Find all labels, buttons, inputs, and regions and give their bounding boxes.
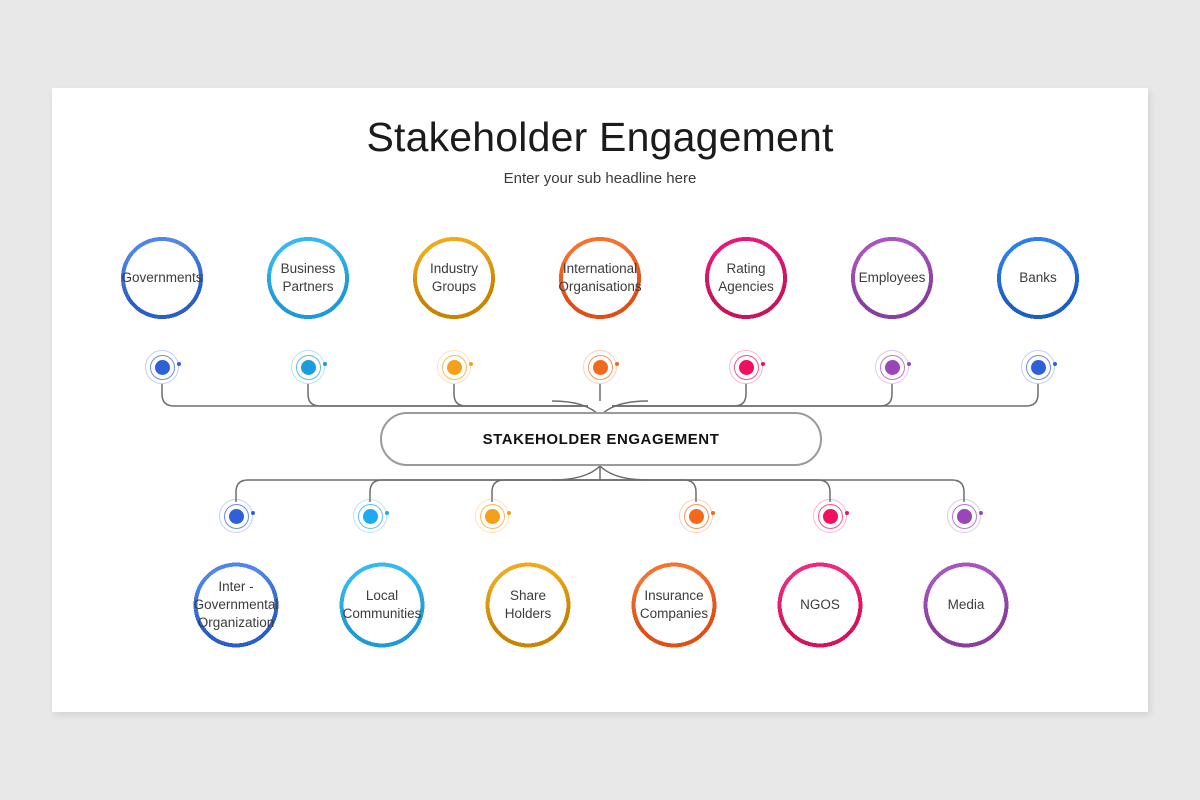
stakeholder-circle-industry-groups[interactable]: Industry Groups — [396, 220, 512, 336]
dot-satellite-icon — [711, 511, 715, 515]
dot-satellite-icon — [251, 511, 255, 515]
stakeholder-label: Rating Agencies — [710, 260, 782, 296]
center-banner-label: STAKEHOLDER ENGAGEMENT — [483, 431, 720, 448]
dot-core-icon — [363, 509, 378, 524]
diagram-stage: Stakeholder Engagement Enter your sub he… — [52, 88, 1148, 712]
dot-core-icon — [885, 360, 900, 375]
dot-satellite-icon — [385, 511, 389, 515]
connector-dot-insurance-companies[interactable] — [679, 499, 713, 533]
dot-satellite-icon — [845, 511, 849, 515]
dot-core-icon — [957, 509, 972, 524]
connector-dot-media[interactable] — [947, 499, 981, 533]
center-banner[interactable]: STAKEHOLDER ENGAGEMENT — [380, 412, 822, 466]
stakeholder-label: Inter - Governmental Organization — [186, 578, 287, 631]
dot-core-icon — [593, 360, 608, 375]
stakeholder-circle-local-communities[interactable]: Local Communities — [322, 545, 442, 665]
slide-canvas: Stakeholder Engagement Enter your sub he… — [52, 88, 1148, 712]
stakeholder-circle-media[interactable]: Media — [906, 545, 1026, 665]
dot-core-icon — [229, 509, 244, 524]
stakeholder-label: Industry Groups — [422, 260, 486, 296]
dot-core-icon — [447, 360, 462, 375]
dot-satellite-icon — [177, 362, 181, 366]
connector-dot-local-communities[interactable] — [353, 499, 387, 533]
dot-satellite-icon — [907, 362, 911, 366]
connector-dot-inter-governmental-organization[interactable] — [219, 499, 253, 533]
dot-satellite-icon — [979, 511, 983, 515]
dot-core-icon — [301, 360, 316, 375]
dot-satellite-icon — [323, 362, 327, 366]
stakeholder-label: Banks — [1011, 269, 1065, 287]
stakeholder-circle-inter-governmental-organization[interactable]: Inter - Governmental Organization — [176, 545, 296, 665]
dot-core-icon — [485, 509, 500, 524]
connector-dot-rating-agencies[interactable] — [729, 350, 763, 384]
connector-dot-governments[interactable] — [145, 350, 179, 384]
dot-core-icon — [823, 509, 838, 524]
stakeholder-label: International Organisations — [550, 260, 649, 296]
dot-core-icon — [689, 509, 704, 524]
stakeholder-circle-rating-agencies[interactable]: Rating Agencies — [688, 220, 804, 336]
stakeholder-label: NGOS — [792, 596, 848, 614]
stakeholder-circle-employees[interactable]: Employees — [834, 220, 950, 336]
dot-core-icon — [155, 360, 170, 375]
stakeholder-label: Employees — [851, 269, 934, 287]
stakeholder-label: Insurance Companies — [632, 587, 716, 623]
dot-satellite-icon — [1053, 362, 1057, 366]
stakeholder-circle-ngos[interactable]: NGOS — [760, 545, 880, 665]
connector-dot-ngos[interactable] — [813, 499, 847, 533]
dot-satellite-icon — [507, 511, 511, 515]
connector-dot-international-organisations[interactable] — [583, 350, 617, 384]
stakeholder-circle-business-partners[interactable]: Business Partners — [250, 220, 366, 336]
stakeholder-circle-insurance-companies[interactable]: Insurance Companies — [614, 545, 734, 665]
stakeholder-circle-share-holders[interactable]: Share Holders — [468, 545, 588, 665]
connector-dot-industry-groups[interactable] — [437, 350, 471, 384]
stakeholder-label: Local Communities — [335, 587, 430, 623]
connector-dot-business-partners[interactable] — [291, 350, 325, 384]
connector-dot-share-holders[interactable] — [475, 499, 509, 533]
stakeholder-circle-international-organisations[interactable]: International Organisations — [542, 220, 658, 336]
connector-dot-banks[interactable] — [1021, 350, 1055, 384]
stakeholder-label: Share Holders — [497, 587, 560, 623]
dot-satellite-icon — [761, 362, 765, 366]
dot-core-icon — [1031, 360, 1046, 375]
connector-dot-employees[interactable] — [875, 350, 909, 384]
stakeholder-circle-banks[interactable]: Banks — [980, 220, 1096, 336]
dot-satellite-icon — [615, 362, 619, 366]
stakeholder-label: Media — [940, 596, 993, 614]
dot-satellite-icon — [469, 362, 473, 366]
stakeholder-label: Business Partners — [273, 260, 344, 296]
dot-core-icon — [739, 360, 754, 375]
stakeholder-label: Governments — [113, 269, 210, 287]
stakeholder-circle-governments[interactable]: Governments — [104, 220, 220, 336]
